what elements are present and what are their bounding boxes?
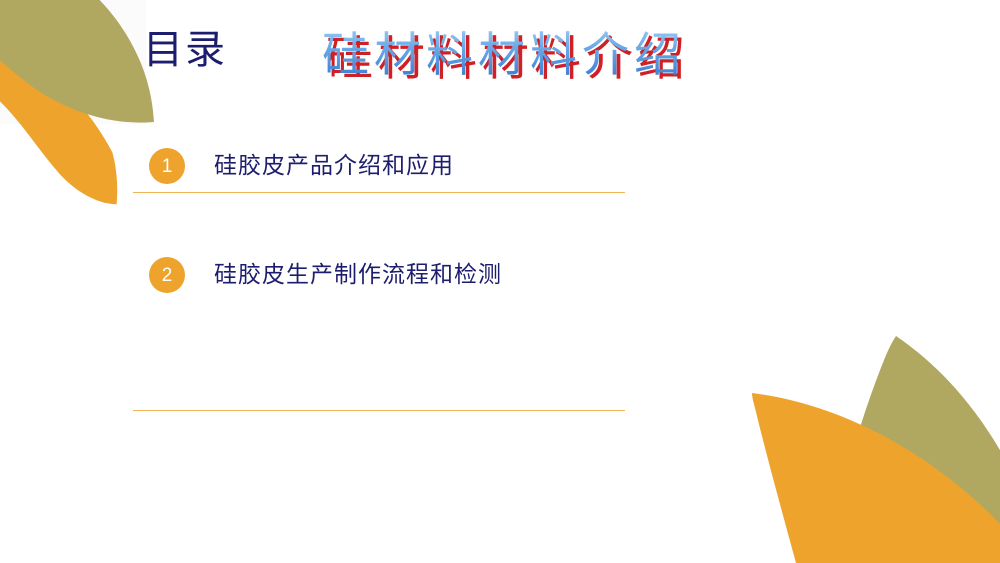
slide-header: 目录 硅材料材料介绍 硅材料材料介绍 xyxy=(0,0,1000,120)
bottom-right-orange-leaf xyxy=(752,393,1000,563)
toc-entry-2[interactable]: 2 硅胶皮生产制作流程和检测 xyxy=(133,249,502,301)
toc-label-1: 硅胶皮产品介绍和应用 xyxy=(214,152,454,180)
bottom-right-olive-leaf xyxy=(820,336,1000,563)
slide-canvas: 目录 硅材料材料介绍 硅材料材料介绍 1 硅胶皮产品介绍和应用 2 硅胶皮生产制… xyxy=(0,0,1000,563)
list-item[interactable]: 1 硅胶皮产品介绍和应用 xyxy=(133,140,625,249)
toc-label-2: 硅胶皮生产制作流程和检测 xyxy=(214,261,502,289)
toc-number-badge-2: 2 xyxy=(149,257,185,293)
list-item[interactable]: 2 硅胶皮生产制作流程和检测 xyxy=(133,249,625,358)
main-title: 硅材料材料介绍 硅材料材料介绍 xyxy=(322,22,722,92)
toc-separator-2 xyxy=(133,410,625,411)
toc-separator-1 xyxy=(133,192,625,193)
toc-number-badge-1: 1 xyxy=(149,148,185,184)
page-title: 目录 xyxy=(143,26,227,74)
toc-entry-1[interactable]: 1 硅胶皮产品介绍和应用 xyxy=(133,140,454,192)
toc-list: 1 硅胶皮产品介绍和应用 2 硅胶皮生产制作流程和检测 xyxy=(133,140,625,358)
main-title-text: 硅材料材料介绍 xyxy=(322,22,686,88)
